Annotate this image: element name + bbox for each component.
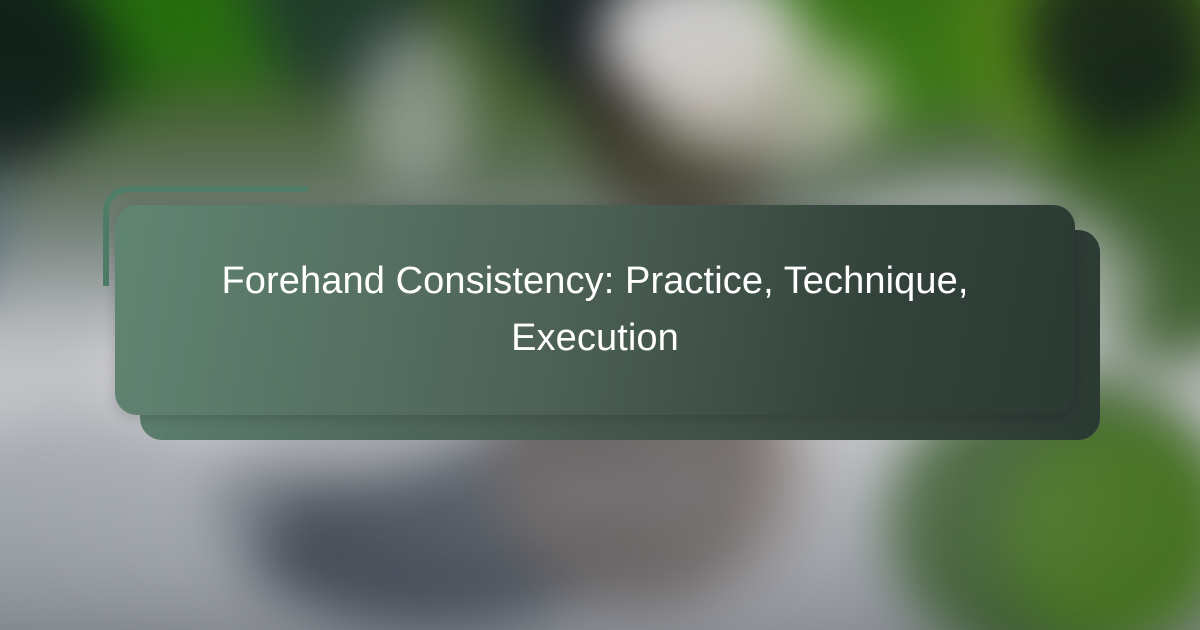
title-card-stack: Forehand Consistency: Practice, Techniqu… xyxy=(100,180,1100,450)
screenshot-canvas: Forehand Consistency: Practice, Techniqu… xyxy=(0,0,1200,630)
card-front-layer: Forehand Consistency: Practice, Techniqu… xyxy=(115,205,1075,415)
page-title: Forehand Consistency: Practice, Techniqu… xyxy=(191,253,999,367)
